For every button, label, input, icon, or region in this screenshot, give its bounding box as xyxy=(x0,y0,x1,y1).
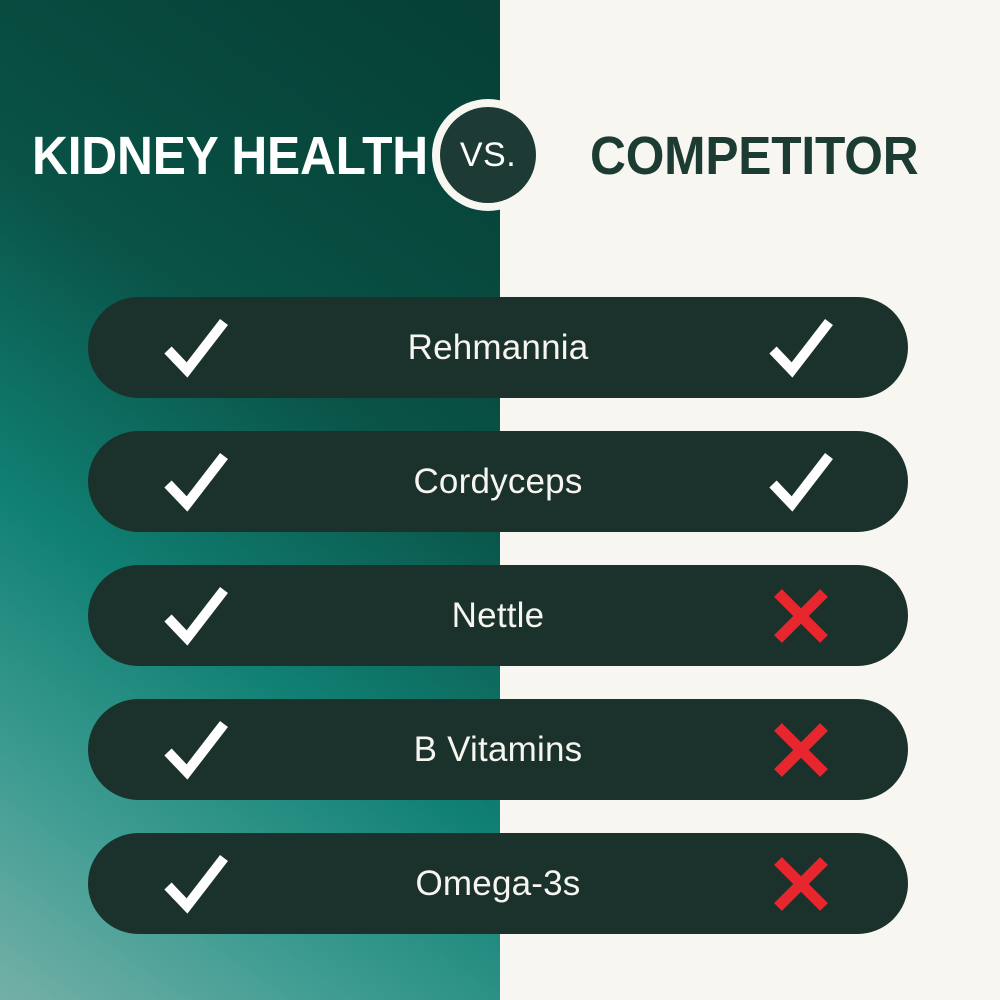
kidney-health-column-check-icon xyxy=(88,312,303,384)
comparison-row: Nettle xyxy=(88,565,908,666)
competitor-column-check-icon xyxy=(693,312,908,384)
competitor-column-check-icon xyxy=(693,446,908,518)
comparison-infographic: KIDNEY HEALTH COMPETITOR VS. RehmanniaCo… xyxy=(0,0,1000,1000)
kidney-health-column-check-icon xyxy=(88,848,303,920)
kidney-health-column-check-icon xyxy=(88,580,303,652)
competitor-column-cross-icon xyxy=(693,719,908,781)
competitor-column-cross-icon xyxy=(693,585,908,647)
comparison-rows: RehmanniaCordycepsNettleB VitaminsOmega-… xyxy=(0,0,1000,1000)
comparison-row: B Vitamins xyxy=(88,699,908,800)
kidney-health-column-check-icon xyxy=(88,714,303,786)
competitor-column-cross-icon xyxy=(693,853,908,915)
kidney-health-column-check-icon xyxy=(88,446,303,518)
ingredient-label: B Vitamins xyxy=(303,730,693,770)
comparison-row: Rehmannia xyxy=(88,297,908,398)
comparison-row: Omega-3s xyxy=(88,833,908,934)
ingredient-label: Cordyceps xyxy=(303,462,693,502)
ingredient-label: Rehmannia xyxy=(303,328,693,368)
ingredient-label: Nettle xyxy=(303,596,693,636)
comparison-row: Cordyceps xyxy=(88,431,908,532)
ingredient-label: Omega-3s xyxy=(303,864,693,904)
